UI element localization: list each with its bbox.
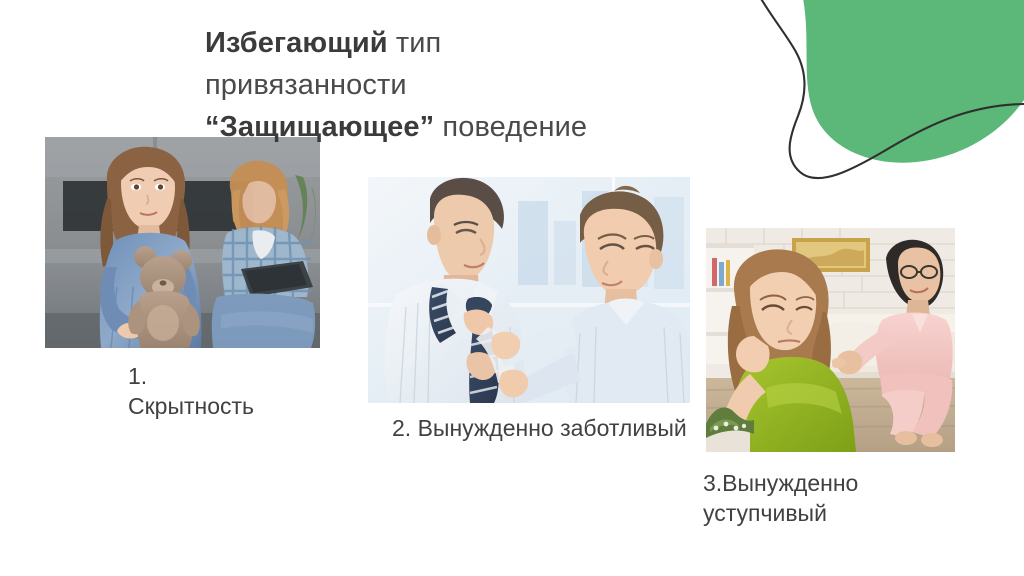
title-word-bold-3: “Защищающее” [205, 111, 434, 143]
page-title: Избегающий тип привязанности “Защищающее… [205, 22, 805, 148]
photo-upset-girl-and-mother [706, 228, 955, 452]
caption-forced-compliant: 3.Вынужденно уступчивый [703, 468, 858, 528]
title-line-2: привязанности [205, 64, 805, 106]
title-word-regular-1: тип [388, 27, 442, 59]
slide-canvas: Избегающий тип привязанности “Защищающее… [0, 0, 1024, 576]
title-word-regular-2: привязанности [205, 69, 407, 101]
caption-forced-caring: 2. Вынужденно заботливый [392, 413, 687, 443]
photo-girl-with-teddy-bear [45, 137, 320, 348]
title-line-3: “Защищающее” поведение [205, 106, 805, 148]
title-line-1: Избегающий тип [205, 22, 805, 64]
title-word-regular-3: поведение [434, 111, 587, 143]
photo-boy-adjusting-tie [368, 177, 690, 403]
green-organic-blob [795, 0, 1024, 163]
title-word-bold-1: Избегающий [205, 27, 388, 59]
caption-secretiveness: 1. Скрытность [128, 361, 254, 421]
